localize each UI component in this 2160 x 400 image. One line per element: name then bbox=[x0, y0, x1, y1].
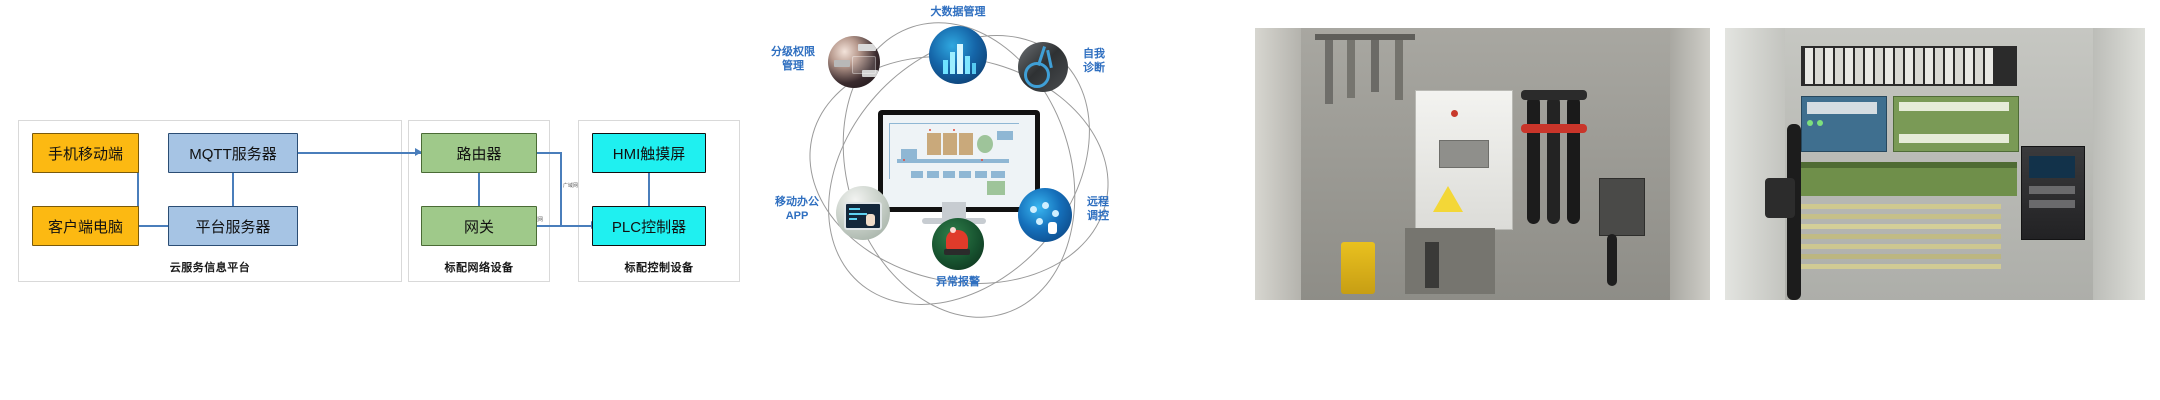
node-router[interactable]: 路由器 bbox=[421, 133, 537, 173]
node-platform-server[interactable]: 平台服务器 bbox=[168, 206, 298, 246]
bubble-remote-control-icon[interactable] bbox=[1018, 188, 1072, 242]
cabinet-frame-right bbox=[2093, 28, 2145, 300]
bubble-big-data-icon[interactable] bbox=[929, 26, 987, 84]
control-cabinet-photo-right bbox=[1725, 28, 2145, 300]
control-cabinet-photo-left bbox=[1255, 28, 1710, 300]
figure-root: 云服务信息平台 标配网络设备 标配控制设备 bbox=[0, 0, 2160, 400]
label-big-data: 大数据管理 bbox=[910, 6, 1006, 20]
cabinet-door-right bbox=[1670, 28, 1710, 300]
system-block-diagram: 云服务信息平台 标配网络设备 标配控制设备 bbox=[0, 0, 760, 400]
group-cloud-platform-caption: 云服务信息平台 bbox=[19, 259, 401, 275]
node-mobile-terminal[interactable]: 手机移动端 bbox=[32, 133, 139, 173]
node-hmi-touch-screen[interactable]: HMI触摸屏 bbox=[592, 133, 706, 173]
yellow-equipment bbox=[1341, 242, 1375, 294]
bubble-mobile-office-icon[interactable] bbox=[836, 186, 890, 240]
node-gateway[interactable]: 网关 bbox=[421, 206, 537, 246]
node-plc-controller[interactable]: PLC控制器 bbox=[592, 206, 706, 246]
link-label-wan-upper: 广域网 bbox=[563, 182, 578, 189]
cabinet-door-left bbox=[1255, 28, 1301, 300]
link-wan-vertical bbox=[560, 152, 562, 226]
label-mobile-office: 移动办公APP bbox=[764, 196, 830, 224]
monitor-scada-schematic bbox=[883, 115, 1035, 207]
node-client-pc[interactable]: 客户端电脑 bbox=[32, 206, 139, 246]
wire-bundle bbox=[1801, 204, 2001, 209]
label-self-diagnosis: 自我诊断 bbox=[1072, 48, 1116, 76]
central-monitor bbox=[878, 110, 1040, 228]
cabinet-frame-left bbox=[1725, 28, 1785, 300]
label-alarm: 异常报警 bbox=[910, 276, 1006, 290]
platform-capability-wheel: 分级权限管理 大数据管理 自我诊断 远程调控 bbox=[760, 0, 1160, 400]
bubble-permissions-icon[interactable] bbox=[828, 36, 880, 88]
group-network-devices-caption: 标配网络设备 bbox=[409, 259, 549, 275]
label-permissions: 分级权限管理 bbox=[762, 46, 824, 74]
label-remote-control: 远程调控 bbox=[1076, 196, 1120, 224]
group-control-devices-caption: 标配控制设备 bbox=[579, 259, 739, 275]
bubble-alarm-icon[interactable] bbox=[932, 218, 984, 270]
node-mqtt-server[interactable]: MQTT服务器 bbox=[168, 133, 298, 173]
bubble-self-diagnosis-icon[interactable] bbox=[1018, 42, 1068, 92]
monitor-screen bbox=[878, 110, 1040, 212]
